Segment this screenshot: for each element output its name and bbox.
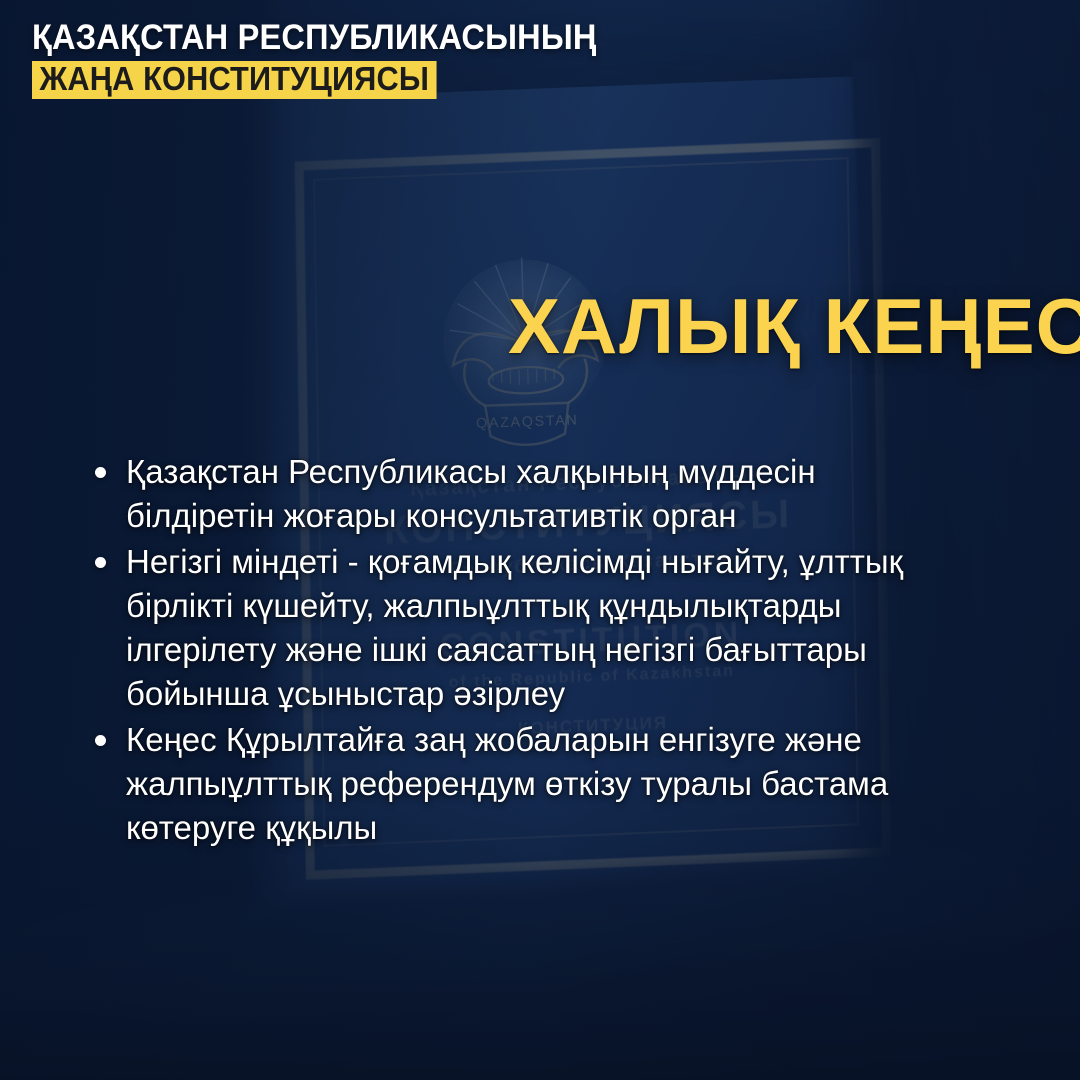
list-item-text: Негізгі міндеті - қоғамдық келісімді нығ…	[126, 543, 903, 712]
list-item-text: Кеңес Құрылтайға заң жобаларын енгізуге …	[126, 721, 888, 846]
bullet-dot-icon	[95, 557, 106, 568]
list-item-text: Қазақстан Республикасы халқының мүддесін…	[126, 453, 816, 534]
header-line-2-highlight: ЖАҢА КОНСТИТУЦИЯСЫ	[32, 61, 437, 99]
header-line-1: ҚАЗАҚСТАН РЕСПУБЛИКАСЫНЫҢ	[32, 20, 739, 56]
poster-canvas: QAZAQSTAN Қазақстан Республикасының КОНС…	[0, 0, 1080, 1080]
bullet-list: Қазақстан Республикасы халқының мүддесін…	[92, 450, 972, 852]
page-title: ХАЛЫҚ КЕҢЕСІ	[508, 286, 1080, 366]
bullet-dot-icon	[95, 735, 106, 746]
list-item: Қазақстан Республикасы халқының мүддесін…	[92, 450, 916, 538]
list-item: Кеңес Құрылтайға заң жобаларын енгізуге …	[92, 718, 916, 850]
bullet-dot-icon	[95, 467, 106, 478]
list-item: Негізгі міндеті - қоғамдық келісімді нығ…	[92, 540, 916, 716]
header-line-2-wrap: ЖАҢА КОНСТИТУЦИЯСЫ	[32, 61, 792, 99]
poster-header: ҚАЗАҚСТАН РЕСПУБЛИКАСЫНЫҢ ЖАҢА КОНСТИТУЦ…	[32, 20, 792, 99]
